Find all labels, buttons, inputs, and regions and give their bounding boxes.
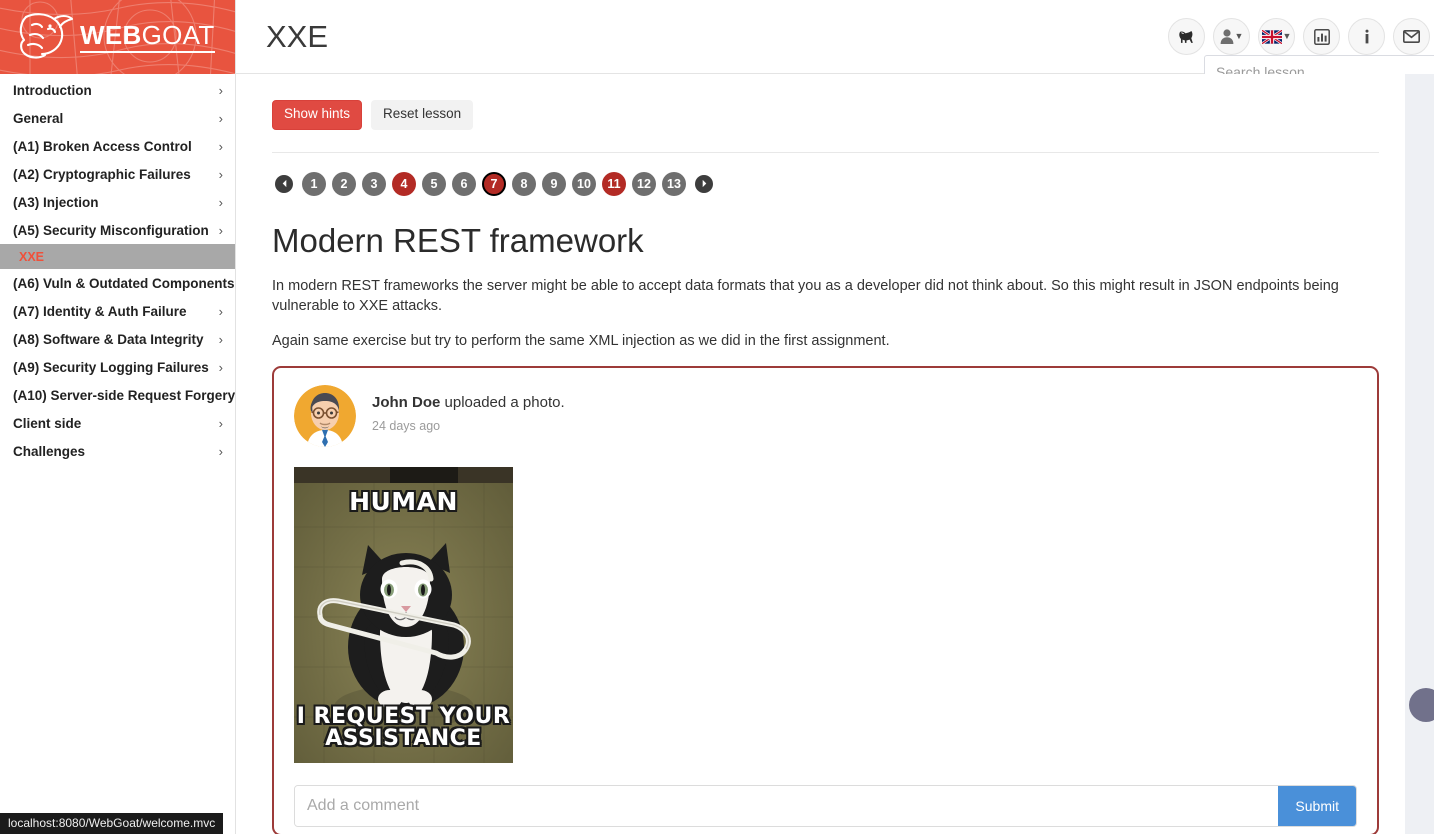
post-header: John Doe uploaded a photo. 24 days ago — [294, 385, 1357, 447]
pagination-page-2[interactable]: 2 — [332, 172, 356, 196]
contact-button[interactable] — [1393, 18, 1430, 55]
chevron-right-icon: › — [219, 333, 223, 346]
pagination-page-3[interactable]: 3 — [362, 172, 386, 196]
sidebar-item-label: (A2) Cryptographic Failures — [13, 167, 191, 182]
sidebar-item-label: (A5) Security Misconfiguration — [13, 223, 209, 238]
chevron-right-icon: › — [219, 305, 223, 318]
chevron-right-icon: › — [219, 196, 223, 209]
pagination-pages: 12345678910111213 — [302, 172, 686, 196]
post-meta: John Doe uploaded a photo. 24 days ago — [372, 385, 565, 433]
user-avatar-photo — [294, 385, 356, 447]
pagination-page-6[interactable]: 6 — [452, 172, 476, 196]
sidebar: WEBGOAT Introduction›General›(A1) Broken… — [0, 0, 236, 834]
sidebar-item-a6-vuln-outdated-components[interactable]: (A6) Vuln & Outdated Components› — [0, 269, 235, 297]
comment-input[interactable] — [295, 786, 1278, 826]
chevron-right-icon: › — [219, 84, 223, 97]
lesson-paragraph-1: In modern REST frameworks the server mig… — [272, 276, 1379, 317]
sidebar-item-label: Challenges — [13, 444, 85, 459]
brand-web: WEB — [80, 20, 142, 50]
main-column: XXE ▼ — [236, 0, 1434, 834]
lesson-paragraph-2: Again same exercise but try to perform t… — [272, 331, 1379, 352]
sidebar-nav: Introduction›General›(A1) Broken Access … — [0, 74, 235, 465]
pagination-page-10[interactable]: 10 — [572, 172, 596, 196]
sidebar-item-client-side[interactable]: Client side› — [0, 409, 235, 437]
sidebar-item-label: Introduction — [13, 83, 92, 98]
lesson-pagination: 12345678910111213 — [272, 172, 1379, 196]
pagination-page-1[interactable]: 1 — [302, 172, 326, 196]
sidebar-item-general[interactable]: General› — [0, 104, 235, 132]
pagination-page-9[interactable]: 9 — [542, 172, 566, 196]
sidebar-item-label: (A10) Server-side Request Forgery — [13, 388, 235, 403]
chevron-right-icon: › — [219, 140, 223, 153]
language-menu-button[interactable]: ▼ — [1258, 18, 1295, 55]
assignment-panel: John Doe uploaded a photo. 24 days ago — [272, 366, 1379, 834]
comment-form: Submit — [294, 785, 1357, 827]
webgoat-app: WEBGOAT Introduction›General›(A1) Broken… — [0, 0, 1434, 834]
sidebar-item-introduction[interactable]: Introduction› — [0, 76, 235, 104]
chevron-right-icon: › — [219, 224, 223, 237]
meme-top-text: HUMAN — [294, 489, 513, 515]
sidebar-item-a8-software-data-integrity[interactable]: (A8) Software & Data Integrity› — [0, 325, 235, 353]
sidebar-item-a10-server-side-request-forgery[interactable]: (A10) Server-side Request Forgery› — [0, 381, 235, 409]
pagination-prev-button[interactable] — [275, 175, 293, 193]
pagination-page-12[interactable]: 12 — [632, 172, 656, 196]
content-divider — [272, 152, 1379, 153]
post-action: uploaded a photo. — [440, 394, 564, 411]
page-title: XXE — [266, 21, 328, 52]
pagination-page-5[interactable]: 5 — [422, 172, 446, 196]
lesson-content: Show hints Reset lesson 1234567891011121… — [236, 74, 1405, 834]
chevron-right-icon: › — [219, 417, 223, 430]
chevron-right-icon: › — [219, 361, 223, 374]
chevron-right-icon: › — [219, 168, 223, 181]
sidebar-item-a3-injection[interactable]: (A3) Injection› — [0, 188, 235, 216]
goat-icon-button[interactable] — [1168, 18, 1205, 55]
about-button[interactable] — [1348, 18, 1385, 55]
chevron-right-icon: › — [235, 277, 237, 290]
top-bar: XXE ▼ — [236, 0, 1434, 74]
meme-bottom-text: I REQUEST YOUR ASSISTANCE — [294, 706, 513, 751]
user-menu-button[interactable]: ▼ — [1213, 18, 1250, 55]
sidebar-item-label: (A3) Injection — [13, 195, 99, 210]
post-author: John Doe — [372, 394, 440, 411]
brand-wordmark: WEBGOAT — [80, 22, 215, 53]
sidebar-item-a5-security-misconfiguration[interactable]: (A5) Security Misconfiguration› — [0, 216, 235, 244]
brand-header[interactable]: WEBGOAT — [0, 0, 236, 74]
pagination-page-11[interactable]: 11 — [602, 172, 626, 196]
right-gutter — [1405, 74, 1434, 834]
chevron-down-icon: ▼ — [1283, 32, 1292, 41]
chat-widget-button[interactable] — [1409, 688, 1434, 722]
sidebar-item-a9-security-logging-failures[interactable]: (A9) Security Logging Failures› — [0, 353, 235, 381]
post-image: HUMAN I REQUEST YOUR ASSISTANCE — [294, 467, 513, 763]
goat-icon — [1177, 28, 1196, 45]
avatar — [294, 385, 356, 447]
brand-goat: GOAT — [142, 20, 215, 50]
chevron-down-icon: ▼ — [1235, 32, 1244, 41]
sidebar-item-label: (A9) Security Logging Failures — [13, 360, 209, 375]
pagination-page-13[interactable]: 13 — [662, 172, 686, 196]
scoreboard-button[interactable] — [1303, 18, 1340, 55]
pagination-page-4[interactable]: 4 — [392, 172, 416, 196]
sidebar-item-label: General — [13, 111, 63, 126]
sidebar-item-label: Client side — [13, 416, 81, 431]
status-bar-url: localhost:8080/WebGoat/welcome.mvc — [0, 813, 223, 834]
pagination-page-8[interactable]: 8 — [512, 172, 536, 196]
bar-chart-icon — [1314, 29, 1330, 45]
pagination-next-button[interactable] — [695, 175, 713, 193]
show-hints-button[interactable]: Show hints — [272, 100, 362, 130]
chevron-right-icon: › — [235, 389, 236, 402]
post-timestamp: 24 days ago — [372, 419, 565, 433]
chevron-right-icon: › — [219, 112, 223, 125]
reset-lesson-button[interactable]: Reset lesson — [371, 100, 473, 130]
sidebar-item-a2-cryptographic-failures[interactable]: (A2) Cryptographic Failures› — [0, 160, 235, 188]
sidebar-item-xxe[interactable]: XXE — [0, 244, 235, 269]
submit-comment-button[interactable]: Submit — [1278, 786, 1356, 826]
lesson-actions: Show hints Reset lesson — [272, 100, 1379, 130]
arrow-right-icon — [700, 179, 709, 188]
sidebar-item-label: (A8) Software & Data Integrity — [13, 332, 204, 347]
flag-uk-icon — [1262, 30, 1282, 44]
chevron-right-icon: › — [219, 445, 223, 458]
mail-icon — [1403, 30, 1420, 43]
sidebar-item-a1-broken-access-control[interactable]: (A1) Broken Access Control› — [0, 132, 235, 160]
user-icon — [1220, 29, 1234, 44]
info-icon — [1362, 29, 1372, 45]
pagination-page-7[interactable]: 7 — [482, 172, 506, 196]
goat-head-icon — [14, 9, 76, 65]
arrow-left-icon — [280, 179, 289, 188]
top-toolbar: ▼ ▼ — [1168, 18, 1430, 55]
sidebar-item-label: (A1) Broken Access Control — [13, 139, 192, 154]
post-text: John Doe uploaded a photo. — [372, 394, 565, 411]
sidebar-item-a7-identity-auth-failure[interactable]: (A7) Identity & Auth Failure› — [0, 297, 235, 325]
sidebar-item-challenges[interactable]: Challenges› — [0, 437, 235, 465]
sidebar-item-label: (A7) Identity & Auth Failure — [13, 304, 187, 319]
lesson-title: Modern REST framework — [272, 222, 1379, 260]
sidebar-item-label: (A6) Vuln & Outdated Components — [13, 276, 235, 291]
